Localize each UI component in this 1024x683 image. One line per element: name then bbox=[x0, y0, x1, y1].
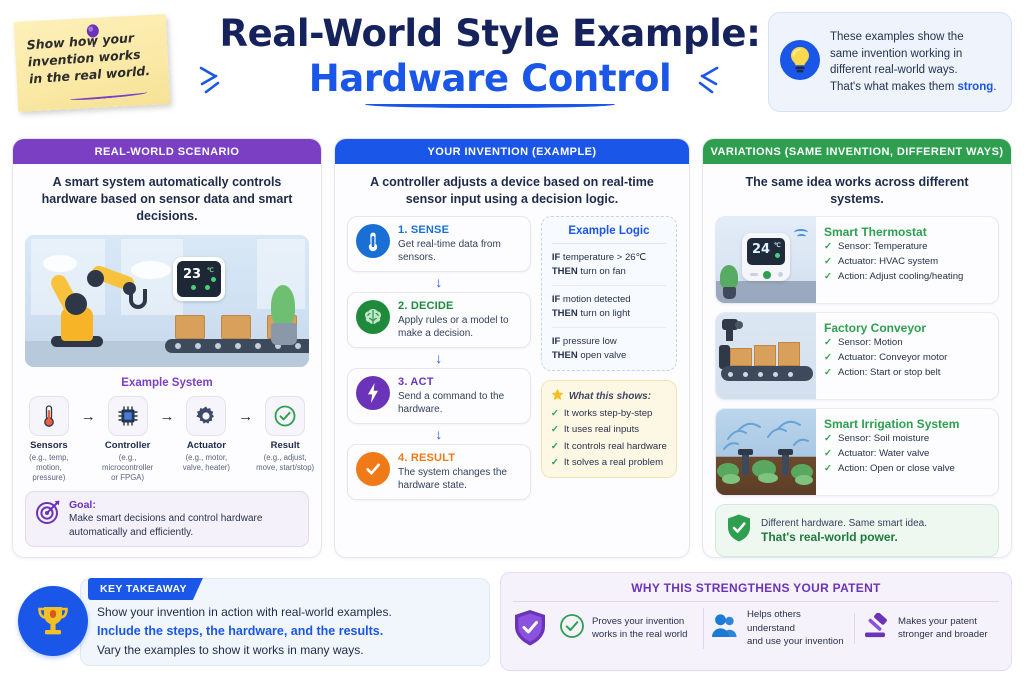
shows-item-text: It works step-by-step bbox=[564, 407, 653, 421]
then-keyword: THEN bbox=[552, 308, 578, 319]
panel-right-header: VARIATIONS (SAME INVENTION, DIFFERENT WA… bbox=[703, 139, 1011, 164]
variation-line-text: Sensor: Temperature bbox=[838, 240, 927, 254]
panel-your-invention: YOUR INVENTION (EXAMPLE) A controller ad… bbox=[334, 138, 690, 558]
shield-check-icon bbox=[726, 513, 752, 548]
step-title: 4. RESULT bbox=[398, 452, 522, 464]
star-icon bbox=[551, 388, 564, 404]
example-logic-title: Example Logic bbox=[552, 225, 666, 243]
check-icon: ✓ bbox=[551, 440, 559, 454]
variation-line-text: Actuator: Conveyor motor bbox=[838, 351, 947, 365]
step-desc: Apply rules or a model to make a decisio… bbox=[398, 314, 522, 340]
panel-right-subtitle: The same idea works across different sys… bbox=[703, 164, 1011, 216]
variation-line-text: Actuator: HVAC system bbox=[838, 255, 938, 269]
variation-line: ✓Sensor: Motion bbox=[824, 336, 947, 350]
flow-arrow-icon: → bbox=[238, 408, 253, 425]
factory-robot-arm-scene: 23 ℃ bbox=[25, 235, 309, 367]
then-text: turn on light bbox=[578, 308, 630, 319]
takeaway-line-2: Include the steps, the hardware, and the… bbox=[97, 622, 475, 641]
what-this-shows-box: What this shows: ✓It works step-by-step … bbox=[541, 380, 677, 478]
tip-callout: These examples show the same invention w… bbox=[768, 12, 1012, 112]
step-arrow-icon: ↓ bbox=[347, 427, 531, 441]
divider bbox=[513, 601, 999, 602]
check-icon: ✓ bbox=[824, 462, 832, 476]
shows-item-text: It uses real inputs bbox=[564, 423, 639, 437]
variation-card-thermostat: 24 ℃ Smart Thermostat ✓Sensor: Temperatu… bbox=[715, 216, 999, 304]
panel-real-world-scenario: REAL-WORLD SCENARIO A smart system autom… bbox=[12, 138, 322, 558]
scene-thermostat-unit: ℃ bbox=[207, 267, 214, 274]
divider bbox=[552, 327, 666, 328]
header: Show how your invention works in the rea… bbox=[0, 0, 1024, 128]
flow-name: Sensors bbox=[19, 440, 79, 451]
flow-desc: (e.g., adjust, move, start/stop) bbox=[255, 453, 315, 473]
why-item-line-2: stronger and broader bbox=[898, 629, 988, 640]
check-icon: ✓ bbox=[824, 351, 832, 365]
why-item-line-1: Helps others understand bbox=[747, 609, 801, 634]
flow-desc: (e.g., motor, valve, heater) bbox=[177, 453, 237, 473]
shows-item: ✓It works step-by-step bbox=[551, 407, 667, 421]
flow-arrow-icon: → bbox=[160, 408, 175, 425]
variation-line-text: Sensor: Motion bbox=[838, 336, 903, 350]
logic-rule: IF pressure low THEN open valve bbox=[552, 335, 666, 362]
factory-conveyor-illustration bbox=[716, 313, 816, 399]
step-arrow-icon: ↓ bbox=[347, 275, 531, 289]
variation-line: ✓Actuator: Conveyor motor bbox=[824, 351, 947, 365]
step-card-result: 4. RESULT The system changes the hardwar… bbox=[347, 444, 531, 500]
variation-title: Smart Thermostat bbox=[824, 225, 963, 239]
scene-thermostat-reading: 23 bbox=[183, 267, 201, 282]
power-small-text: Different hardware. Same smart idea. bbox=[761, 518, 927, 529]
goal-text: Make smart decisions and control hardwar… bbox=[69, 512, 299, 539]
if-text: temperature > 26℃ bbox=[560, 252, 646, 263]
flow-name: Controller bbox=[98, 440, 158, 451]
then-text: turn on fan bbox=[578, 266, 626, 277]
thermometer-icon bbox=[29, 396, 69, 436]
variation-line-text: Actuator: Water valve bbox=[838, 447, 929, 461]
why-item-helps: Helps others understand and use your inv… bbox=[703, 608, 850, 649]
logic-rule-if: IF temperature > 26℃ bbox=[552, 251, 666, 265]
gear-icon bbox=[186, 396, 226, 436]
shows-item: ✓It uses real inputs bbox=[551, 423, 667, 437]
sparkle-left-icon bbox=[198, 62, 224, 103]
people-icon bbox=[710, 613, 740, 644]
panel-left-header: REAL-WORLD SCENARIO bbox=[13, 139, 321, 164]
takeaway-line-1: Show your invention in action with real-… bbox=[97, 603, 475, 622]
brain-icon bbox=[356, 300, 390, 334]
divider bbox=[552, 243, 666, 244]
logic-rule-then: THEN turn on fan bbox=[552, 265, 666, 279]
why-item-text: Helps others understand and use your inv… bbox=[747, 608, 844, 649]
variation-line-text: Action: Open or close valve bbox=[838, 462, 955, 476]
tip-strong-word: strong bbox=[957, 81, 993, 93]
smart-thermostat-illustration: 24 ℃ bbox=[716, 217, 816, 303]
why-title: WHY THIS STRENGTHENS YOUR PATENT bbox=[511, 581, 1001, 595]
tip-line-1: These examples show the bbox=[830, 29, 996, 46]
logic-rule-if: IF pressure low bbox=[552, 335, 666, 349]
check-circle-icon bbox=[265, 396, 305, 436]
why-item-text: Makes your patent stronger and broader bbox=[898, 615, 988, 642]
step-desc: Get real-time data from sensors. bbox=[398, 238, 522, 264]
step-title: 2. DECIDE bbox=[398, 300, 522, 312]
goal-box: Goal: Make smart decisions and control h… bbox=[25, 491, 309, 547]
tip-line-2: same invention working in bbox=[830, 46, 996, 63]
flow-desc: (e.g., microcontroller or FPGA) bbox=[98, 453, 158, 483]
check-icon: ✓ bbox=[551, 456, 559, 470]
variation-line: ✓Action: Start or stop belt bbox=[824, 366, 947, 380]
step-title: 1. SENSE bbox=[398, 224, 522, 236]
flow-item-result: Result (e.g., adjust, move, start/stop) bbox=[255, 396, 315, 473]
real-world-power-box: Different hardware. Same smart idea. Tha… bbox=[715, 504, 999, 557]
logic-rule-if: IF motion detected bbox=[552, 293, 666, 307]
then-keyword: THEN bbox=[552, 266, 578, 277]
check-circle-icon bbox=[356, 452, 390, 486]
check-icon: ✓ bbox=[824, 447, 832, 461]
shows-item: ✓It controls real hardware bbox=[551, 440, 667, 454]
sticky-note-text: Show how your invention works in the rea… bbox=[26, 27, 159, 87]
if-text: motion detected bbox=[560, 294, 630, 305]
step-card-sense: 1. SENSE Get real-time data from sensors… bbox=[347, 216, 531, 272]
check-icon: ✓ bbox=[824, 270, 832, 284]
goal-label: Goal: bbox=[69, 499, 299, 511]
note-underline bbox=[70, 90, 148, 102]
variation-line: ✓Action: Open or close valve bbox=[824, 462, 959, 476]
check-icon: ✓ bbox=[551, 423, 559, 437]
logic-rule: IF temperature > 26℃ THEN turn on fan bbox=[552, 251, 666, 278]
shows-item-text: It controls real hardware bbox=[564, 440, 667, 454]
sticky-note: Show how your invention works in the rea… bbox=[14, 14, 171, 112]
variation-line: ✓Actuator: Water valve bbox=[824, 447, 959, 461]
key-takeaway-tab: KEY TAKEAWAY bbox=[88, 578, 203, 600]
scene-thermostat: 23 ℃ bbox=[173, 257, 225, 301]
power-big-text: That's real-world power. bbox=[761, 530, 927, 544]
tip-line-4-pre: That's what makes them bbox=[830, 81, 957, 93]
shows-item: ✓It solves a real problem bbox=[551, 456, 667, 470]
variation-title: Smart Irrigation System bbox=[824, 417, 959, 431]
title-line-2: Hardware Control bbox=[200, 57, 780, 100]
why-item-stronger: Makes your patent stronger and broader bbox=[854, 613, 1001, 644]
flow-arrow-icon: → bbox=[81, 408, 96, 425]
flow-desc: (e.g., temp, motion, pressure) bbox=[19, 453, 79, 483]
variation-line-text: Action: Adjust cooling/heating bbox=[838, 270, 963, 284]
why-item-line-1: Proves your invention bbox=[592, 616, 684, 627]
tip-line-4-post: . bbox=[993, 81, 996, 93]
logic-rule: IF motion detected THEN turn on light bbox=[552, 293, 666, 320]
flow-name: Result bbox=[255, 440, 315, 451]
flow-item-sensors: Sensors (e.g., temp, motion, pressure) bbox=[19, 396, 79, 483]
why-strengthens-patent: WHY THIS STRENGTHENS YOUR PATENT Proves … bbox=[500, 572, 1012, 671]
step-arrow-icon: ↓ bbox=[347, 351, 531, 365]
tip-line-3: different real-world ways. bbox=[830, 62, 996, 79]
page-title: Real-World Style Example: Hardware Contr… bbox=[200, 12, 780, 108]
variation-line-text: Action: Start or stop belt bbox=[838, 366, 940, 380]
title-line-1: Real-World Style Example: bbox=[200, 12, 780, 55]
variation-line: ✓Sensor: Temperature bbox=[824, 240, 963, 254]
example-system-flow: Sensors (e.g., temp, motion, pressure) →… bbox=[13, 396, 321, 483]
check-icon: ✓ bbox=[824, 255, 832, 269]
then-keyword: THEN bbox=[552, 350, 578, 361]
target-icon bbox=[35, 499, 61, 530]
flow-name: Actuator bbox=[177, 440, 237, 451]
flow-item-controller: Controller (e.g., microcontroller or FPG… bbox=[98, 396, 158, 483]
lightbulb-icon bbox=[779, 39, 821, 86]
why-item-line-2: works in the real world bbox=[592, 629, 687, 640]
step-desc: Send a command to the hardware. bbox=[398, 390, 522, 416]
step-desc: The system changes the hardware state. bbox=[398, 466, 522, 492]
then-text: open valve bbox=[578, 350, 627, 361]
logic-rule-then: THEN turn on light bbox=[552, 307, 666, 321]
thermometer-icon bbox=[356, 224, 390, 258]
check-icon: ✓ bbox=[824, 240, 832, 254]
tip-line-4: That's what makes them strong. bbox=[830, 79, 996, 96]
variation-thermostat-unit: ℃ bbox=[774, 242, 781, 249]
what-this-shows-heading: What this shows: bbox=[551, 388, 667, 404]
title-underline bbox=[365, 101, 615, 108]
step-title: 3. ACT bbox=[398, 376, 522, 388]
why-item-proves: Proves your invention works in the real … bbox=[553, 613, 699, 644]
variation-card-conveyor: Factory Conveyor ✓Sensor: Motion ✓Actuat… bbox=[715, 312, 999, 400]
why-item-line-1: Makes your patent bbox=[898, 616, 977, 627]
flow-item-actuator: Actuator (e.g., motor, valve, heater) bbox=[177, 396, 237, 473]
takeaway-line-3: Vary the examples to show it works in ma… bbox=[97, 641, 475, 660]
variation-thermostat-reading: 24 bbox=[752, 242, 770, 257]
check-icon: ✓ bbox=[824, 432, 832, 446]
check-icon: ✓ bbox=[824, 336, 832, 350]
why-item-line-2: and use your invention bbox=[747, 636, 844, 647]
trophy-icon bbox=[18, 586, 88, 656]
tip-text: These examples show the same invention w… bbox=[830, 29, 996, 95]
shield-check-icon bbox=[511, 608, 549, 648]
panel-mid-subtitle: A controller adjusts a device based on r… bbox=[335, 164, 689, 216]
shows-heading-text: What this shows: bbox=[569, 391, 651, 402]
if-text: pressure low bbox=[560, 336, 617, 347]
check-icon: ✓ bbox=[551, 407, 559, 421]
panel-mid-header: YOUR INVENTION (EXAMPLE) bbox=[335, 139, 689, 164]
smart-irrigation-illustration bbox=[716, 409, 816, 495]
invention-steps: 1. SENSE Get real-time data from sensors… bbox=[347, 216, 531, 500]
divider bbox=[552, 285, 666, 286]
why-item-text: Proves your invention works in the real … bbox=[592, 615, 687, 642]
sparkle-right-icon bbox=[694, 62, 720, 103]
microchip-icon bbox=[108, 396, 148, 436]
variation-line: ✓Sensor: Soil moisture bbox=[824, 432, 959, 446]
example-system-title: Example System bbox=[13, 377, 321, 389]
step-card-decide: 2. DECIDE Apply rules or a model to make… bbox=[347, 292, 531, 348]
variation-line-text: Sensor: Soil moisture bbox=[838, 432, 929, 446]
lightning-bolt-icon bbox=[356, 376, 390, 410]
example-logic-box: Example Logic IF temperature > 26℃ THEN … bbox=[541, 216, 677, 371]
panel-left-subtitle: A smart system automatically controls ha… bbox=[13, 164, 321, 233]
shows-item-text: It solves a real problem bbox=[564, 456, 663, 470]
check-icon: ✓ bbox=[824, 366, 832, 380]
gavel-icon bbox=[861, 613, 891, 644]
variation-line: ✓Action: Adjust cooling/heating bbox=[824, 270, 963, 284]
logic-rule-then: THEN open valve bbox=[552, 349, 666, 363]
step-card-act: 3. ACT Send a command to the hardware. bbox=[347, 368, 531, 424]
variation-title: Factory Conveyor bbox=[824, 321, 947, 335]
check-circle-icon bbox=[559, 613, 585, 644]
key-takeaway: Show your invention in action with real-… bbox=[12, 572, 490, 671]
panel-variations: VARIATIONS (SAME INVENTION, DIFFERENT WA… bbox=[702, 138, 1012, 558]
variation-line: ✓Actuator: HVAC system bbox=[824, 255, 963, 269]
variation-card-irrigation: Smart Irrigation System ✓Sensor: Soil mo… bbox=[715, 408, 999, 496]
